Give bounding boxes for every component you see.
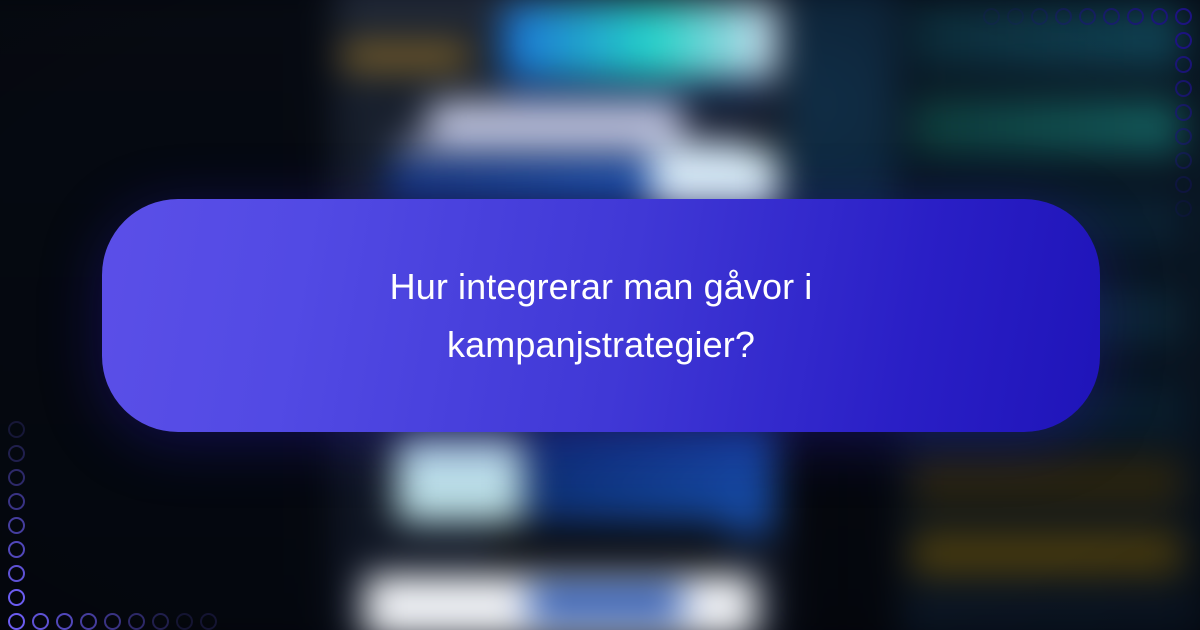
background-block	[341, 45, 468, 68]
background-block	[912, 98, 1182, 155]
question-card[interactable]: Hur integrerar man gåvor i kampanjstrate…	[102, 199, 1100, 432]
background-block	[529, 587, 683, 619]
background-block	[912, 458, 1182, 507]
background-block	[912, 587, 1182, 625]
background-block	[492, 522, 725, 564]
background-block	[502, 83, 767, 100]
background-block	[502, 4, 778, 78]
background-block	[912, 532, 1182, 574]
screenshot-canvas: Hur integrerar man gåvor i kampanjstrate…	[0, 0, 1200, 630]
background-block	[428, 102, 682, 138]
background-block	[529, 426, 773, 532]
question-text: Hur integrerar man gåvor i kampanjstrate…	[211, 258, 991, 374]
background-block	[912, 7, 1182, 68]
background-block	[396, 437, 523, 522]
